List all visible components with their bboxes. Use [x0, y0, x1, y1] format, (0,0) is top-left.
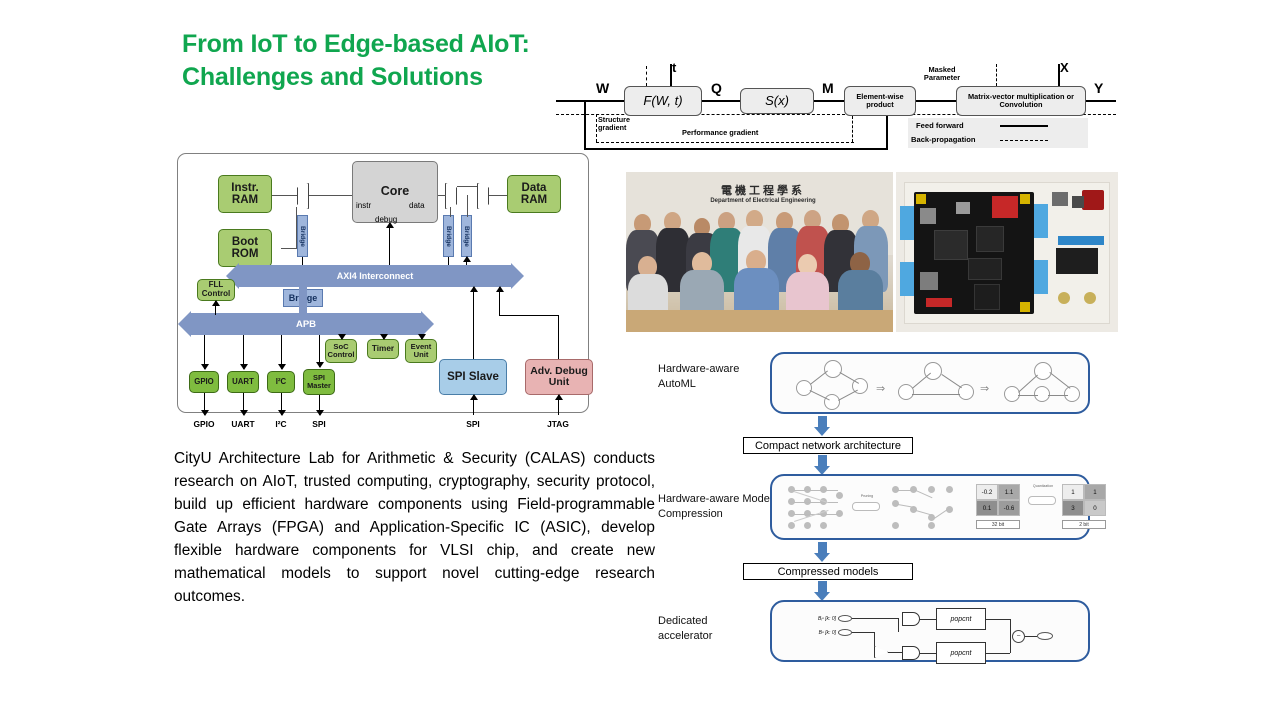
flow-f-up-dash [646, 66, 647, 86]
wire-debug-up [389, 223, 390, 271]
core-block: Core [352, 161, 438, 223]
page-title: From IoT to Edge-based AIoT: Challenges … [182, 28, 562, 93]
soc-architecture-diagram: Core instr data debug Instr. RAM Boot RO… [177, 153, 613, 438]
instr-ram-block: Instr. RAM [218, 175, 272, 213]
bits-after-label: 2 bit [1062, 520, 1106, 529]
accel-input-label-0: Bᵢⁿ [k: 0] [788, 614, 836, 623]
flow-block-f: F(W, t) [624, 86, 702, 116]
wire-fll-up [215, 301, 216, 315]
board-label-jtag [926, 298, 952, 307]
popcnt-block-1: popcnt [936, 608, 986, 630]
wire-apb-socctrl [341, 335, 342, 339]
flow-block-matvec: Matrix-vector multiplication or Convolut… [956, 86, 1086, 116]
apb-bus: APB [191, 313, 421, 335]
flow-legend-feedforward-label: Feed forward [916, 121, 964, 130]
flow-legend-feedforward-arrow [1000, 125, 1048, 127]
wire-apb-i2c [281, 335, 282, 369]
wire-data [438, 195, 446, 196]
wire-dbg-v [558, 315, 559, 359]
wire-dbg-h [499, 315, 559, 316]
core-port-data: data [409, 201, 425, 210]
bridge-instr: Bridge [297, 215, 308, 257]
pin-label-gpio: GPIO [183, 419, 225, 429]
ee-sign-chinese: 電機工程學系 [668, 182, 858, 198]
flow-struct-solid-v [886, 116, 888, 150]
flow-label-t: t [672, 60, 676, 75]
matrix-before-cell-1: 1.1 [998, 484, 1020, 500]
flow-t-arrow [670, 64, 672, 86]
spi-master-block: SPI Master [303, 369, 335, 395]
wire-mux-d2 [467, 195, 468, 217]
flow-label-m: M [822, 80, 834, 96]
pin-label-i2c: I²C [260, 419, 302, 429]
board-label-ps [1034, 260, 1048, 294]
bus-bridge-link [299, 287, 307, 313]
pipeline-panel-automl: ⇒ ⇒ [770, 352, 1090, 414]
pipeline-arrow-2 [814, 455, 831, 475]
flow-elemwise-dash-down [852, 116, 853, 142]
data-ram-block: Data RAM [507, 175, 561, 213]
matrix-before-cell-0: -0.2 [976, 484, 998, 500]
flow-struct-solid-h [584, 148, 888, 150]
pin-label-uart: UART [222, 419, 264, 429]
pin-uart [243, 393, 244, 415]
wire-apb-timer [383, 335, 384, 339]
bridge-data-2: Bridge [461, 215, 472, 257]
i2c-block: I²C [267, 371, 295, 393]
pipeline-arrow-1 [814, 416, 831, 436]
matrix-after-cell-1: 1 [1084, 484, 1106, 500]
pipeline-connector-compressed-models: Compressed models [743, 563, 913, 580]
wire-apb-uart [243, 335, 244, 369]
wire-apb-spim [319, 335, 320, 367]
wire-instr [309, 195, 352, 196]
aiot-design-pipeline: Hardware-aware AutoML ⇒ ⇒ [658, 352, 1090, 672]
board-button-2 [1058, 292, 1070, 304]
flow-label-q: Q [711, 80, 722, 96]
flow-matvec-up-dash [996, 64, 997, 86]
pipeline-label-accelerator: Dedicated accelerator [658, 614, 763, 643]
fpga-board-photo [896, 172, 1118, 332]
flow-block-s: S(x) [740, 88, 814, 114]
wire-spislave-axi [473, 287, 474, 359]
pipeline-label-automl: Hardware-aware AutoML [658, 362, 763, 391]
flow-block-elementwise: Element-wise product [844, 86, 916, 116]
body-paragraph: CityU Architecture Lab for Arithmetic & … [174, 448, 655, 609]
ee-sign-english: Department of Electrical Engineering [668, 198, 858, 204]
adv-debug-unit-block: Adv. Debug Unit [525, 359, 593, 395]
flow-label-masked-parameter: Masked Parameter [918, 66, 966, 82]
flow-label-x: X [1060, 60, 1069, 75]
core-port-instr: instr [356, 201, 371, 210]
flow-legend-backprop-label: Back-propagation [911, 135, 976, 144]
wire-dbg-axi [499, 287, 500, 315]
wire-apb-evu [421, 335, 422, 339]
wire-apb-gpio [204, 335, 205, 369]
subtract-node: − [1012, 630, 1025, 643]
pipeline-arrow-4 [814, 581, 831, 601]
uart-block: UART [227, 371, 259, 393]
popcnt-block-2: popcnt [936, 642, 986, 664]
pipeline-arrow-3 [814, 542, 831, 562]
slide-canvas: From IoT to Edge-based AIoT: Challenges … [0, 0, 1280, 720]
board-button-1 [1084, 292, 1096, 304]
pin-label-spi-slave: SPI [452, 419, 494, 429]
wire-data-ram [489, 195, 507, 196]
timer-block: Timer [367, 339, 399, 359]
pin-label-spi: SPI [298, 419, 340, 429]
pin-spi [319, 395, 320, 415]
spi-slave-block: SPI Slave [439, 359, 507, 395]
pipeline-panel-accelerator: Bᵢⁿ [k: 0] Bⁿ [k: 0] popcnt popcnt − [770, 600, 1090, 662]
matrix-after-cell-2: 3 [1062, 500, 1084, 516]
event-unit-block: Event Unit [405, 339, 437, 363]
flow-label-w: W [596, 80, 609, 96]
board-label-pl1 [1034, 204, 1048, 238]
bridge-data-1: Bridge [443, 215, 454, 257]
flow-perf-gradient-up [596, 114, 597, 142]
flow-perf-gradient-line [596, 142, 854, 143]
pruning-caption: Pruning [852, 492, 882, 500]
team-group-photo: 電機工程學系 Department of Electrical Engineer… [626, 172, 893, 332]
pin-gpio [204, 393, 205, 415]
board-label-pl3 [900, 262, 914, 296]
matrix-before-cell-3: -0.6 [998, 500, 1020, 516]
fll-control-block: FLL Control [197, 279, 235, 301]
boot-rom-block: Boot ROM [218, 229, 272, 267]
wire-mux-d1 [450, 207, 451, 217]
flow-legend-backprop-arrow [1000, 140, 1048, 141]
pin-jtag [558, 395, 559, 415]
matrix-before-cell-2: 0.1 [976, 500, 998, 516]
flow-label-structure-gradient: Structure gradient [598, 116, 646, 133]
flow-label-performance-gradient: Performance gradient [682, 128, 758, 137]
matrix-after-cell-3: 0 [1084, 500, 1106, 516]
soc-control-block: SoC Control [325, 339, 357, 363]
accel-input-label-1: Bⁿ [k: 0] [788, 628, 836, 637]
pin-label-jtag: JTAG [537, 419, 579, 429]
board-power-jack [1082, 190, 1104, 210]
wire-mux-link [457, 186, 477, 187]
pipeline-panel-compression: Pruning -0.2 1.1 0.1 -0.6 32 bit Quantiz… [770, 474, 1090, 540]
matrix-after-cell-0: 1 [1062, 484, 1084, 500]
pipeline-label-compression: Hardware-aware Model Compression [658, 492, 773, 521]
masked-parameter-dataflow-diagram: F(W, t) S(x) Element-wise product Matrix… [556, 56, 1118, 151]
flow-struct-solid-left [584, 102, 586, 150]
flow-x-arrow [1058, 64, 1060, 86]
bits-before-label: 32 bit [976, 520, 1020, 529]
pin-spi-slave [473, 395, 474, 415]
pin-i2c [281, 393, 282, 415]
axi4-interconnect-bus: AXI4 Interconnect [239, 265, 511, 287]
pipeline-connector-compact-network: Compact network architecture [743, 437, 913, 454]
wire-bootrom [281, 248, 297, 249]
gpio-block: GPIO [189, 371, 219, 393]
flow-label-y: Y [1094, 80, 1103, 96]
board-label-pl2 [900, 206, 914, 240]
wire-instr-ram [272, 195, 297, 196]
quantization-caption: Quantization [1022, 482, 1064, 490]
board-label-lora [1058, 236, 1104, 245]
